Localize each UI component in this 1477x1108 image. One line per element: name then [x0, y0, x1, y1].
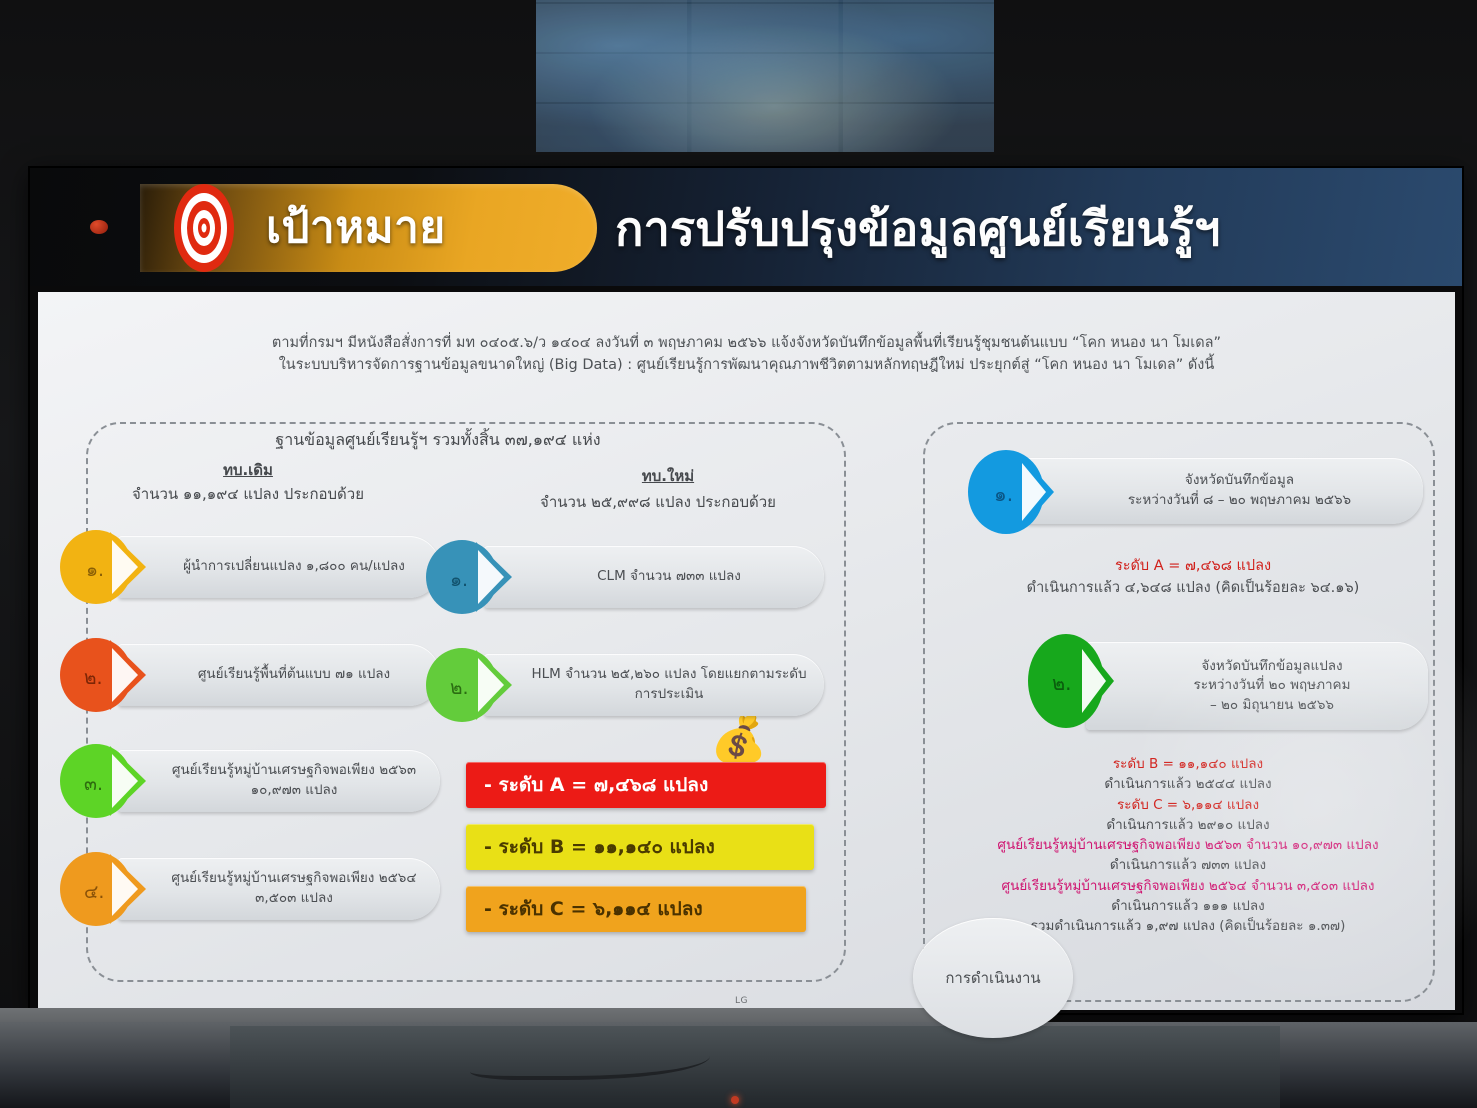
money-bag-icon: 💰: [710, 716, 767, 762]
goal-label: เป้าหมาย: [266, 190, 586, 264]
tv-brand-logo: LG: [735, 996, 748, 1006]
note2-line-7: ศูนย์เรียนรู้หมู่บ้านเศรษฐกิจพอเพียง ๒๕๖…: [928, 876, 1448, 896]
step-arrow-icon: ๒.: [426, 648, 512, 722]
step-arrow-icon: ๑.: [60, 530, 146, 604]
step-arrow-icon: ๑.: [426, 540, 512, 614]
slide-header-band: เป้าหมาย การปรับปรุงข้อมูลศูนย์เรียนรู้ฯ: [30, 168, 1462, 286]
old-row-3[interactable]: ๓. ศูนย์เรียนรู้หมู่บ้านเศรษฐกิจพอเพียง …: [60, 744, 440, 818]
step-arrow-icon: ๓.: [60, 744, 146, 818]
note2-line-6: ดำเนินการแล้ว ๗๓๓ แปลง: [928, 855, 1448, 875]
note2-line-8: ดำเนินการแล้ว ๑๑๑ แปลง: [928, 896, 1448, 916]
svg-text:๔.: ๔.: [84, 881, 104, 903]
right-step-2-line-1: จังหวัดบันทึกข้อมูลแปลง: [1201, 657, 1342, 677]
svg-text:๑.: ๑.: [450, 569, 468, 591]
right-note-block-2: ระดับ B = ๑๑,๑๔๐ แปลง ดำเนินการแล้ว ๒๕๔๔…: [928, 754, 1448, 936]
operation-label: การดำเนินงาน: [913, 918, 1073, 1038]
step-arrow-icon: ๒.: [60, 638, 146, 712]
svg-text:๒.: ๒.: [450, 677, 469, 699]
new-row-1-label: CLM จำนวน ๗๓๓ แปลง: [484, 546, 824, 608]
new-row-2-label: HLM จำนวน ๒๕,๒๖๐ แปลง โดยแยกตามระดับการป…: [484, 654, 824, 716]
note2-line-4: ดำเนินการแล้ว ๒๙๑๐ แปลง: [928, 815, 1448, 835]
new-row-1[interactable]: ๑. CLM จำนวน ๗๓๓ แปลง: [426, 540, 824, 614]
right-step-2-body: จังหวัดบันทึกข้อมูลแปลง ระหว่างวันที่ ๒๐…: [1086, 642, 1428, 730]
right-note-block-1: ระดับ A = ๗,๔๖๘ แปลง ดำเนินการแล้ว ๔,๖๔๘…: [943, 556, 1443, 600]
new-row-2[interactable]: ๒. HLM จำนวน ๒๕,๒๖๐ แปลง โดยแยกตามระดับก…: [426, 648, 824, 722]
old-row-2[interactable]: ๒. ศูนย์เรียนรู้พื้นที่ต้นแบบ ๗๑ แปลง: [60, 638, 440, 712]
intro-paragraph: ตามที่กรมฯ มีหนังสือสั่งการที่ มท ๐๔๐๕.๖…: [38, 332, 1455, 377]
right-step-2-line-3: – ๒๐ มิถุนายน ๒๕๖๖: [1210, 696, 1334, 716]
svg-text:๑.: ๑.: [86, 559, 104, 581]
old-row-4-label: ศูนย์เรียนรู้หมู่บ้านเศรษฐกิจพอเพียง ๒๕๖…: [118, 858, 440, 920]
col-new-subheading: จำนวน ๒๕,๙๙๘ แปลง ประกอบด้วย: [438, 490, 878, 514]
level-a-chip[interactable]: - ระดับ A = ๗,๔๖๘ แปลง: [466, 762, 826, 808]
photo-collage-panel: [536, 0, 994, 152]
desk-shadow: [230, 1026, 1280, 1108]
slide-body: ตามที่กรมฯ มีหนังสือสั่งการที่ มท ๐๔๐๕.๖…: [38, 292, 1455, 1010]
note2-line-2: ดำเนินการแล้ว ๒๕๔๔ แปลง: [928, 774, 1448, 794]
step-arrow-icon: ๔.: [60, 852, 146, 926]
left-panel-title: ฐานข้อมูลศูนย์เรียนรู้ฯ รวมทั้งสิ้น ๓๗,๑…: [158, 428, 718, 453]
col-old-subheading: จำนวน ๑๑,๑๙๔ แปลง ประกอบด้วย: [58, 482, 438, 506]
screenshot-root: เป้าหมาย การปรับปรุงข้อมูลศูนย์เรียนรู้ฯ…: [0, 0, 1477, 1108]
right-step-2-line-2: ระหว่างวันที่ ๒๐ พฤษภาคม: [1194, 676, 1351, 696]
old-row-4[interactable]: ๔. ศูนย์เรียนรู้หมู่บ้านเศรษฐกิจพอเพียง …: [60, 852, 440, 926]
old-row-1[interactable]: ๑. ผู้นำการเปลี่ยนแปลง ๑,๘๐๐ คน/แปลง: [60, 530, 440, 604]
page-title: การปรับปรุงข้อมูลศูนย์เรียนรู้ฯ: [615, 188, 1455, 268]
svg-text:๒.: ๒.: [84, 667, 103, 689]
power-led-icon: [731, 1096, 739, 1104]
note2-line-1: ระดับ B = ๑๑,๑๔๐ แปลง: [928, 754, 1448, 774]
old-row-3-label: ศูนย์เรียนรู้หมู่บ้านเศรษฐกิจพอเพียง ๒๕๖…: [118, 750, 440, 812]
intro-line-2: ในระบบบริหารจัดการฐานข้อมูลขนาดใหญ่ (Big…: [72, 354, 1421, 376]
right-step-1[interactable]: ๑. จังหวัดบันทึกข้อมูล ระหว่างวันที่ ๘ –…: [968, 450, 1423, 534]
col-new-heading: ทบ.ใหม่: [538, 464, 798, 488]
right-step-2[interactable]: ๒. จังหวัดบันทึกข้อมูลแปลง ระหว่างวันที่…: [1028, 634, 1428, 738]
intro-line-1: ตามที่กรมฯ มีหนังสือสั่งการที่ มท ๐๔๐๕.๖…: [72, 332, 1421, 354]
note1-line-1: ระดับ A = ๗,๔๖๘ แปลง: [943, 556, 1443, 578]
step-arrow-icon: ๒.: [1028, 634, 1114, 708]
note2-line-3: ระดับ C = ๖,๑๑๔ แปลง: [928, 795, 1448, 815]
svg-text:๑.: ๑.: [994, 482, 1013, 506]
level-c-chip[interactable]: - ระดับ C = ๖,๑๑๔ แปลง: [466, 886, 806, 932]
old-row-1-label: ผู้นำการเปลี่ยนแปลง ๑,๘๐๐ คน/แปลง: [118, 536, 440, 598]
note2-line-5: ศูนย์เรียนรู้หมู่บ้านเศรษฐกิจพอเพียง ๒๕๖…: [928, 835, 1448, 855]
bullseye-icon: [158, 182, 250, 274]
svg-text:๒.: ๒.: [1052, 671, 1072, 695]
step-arrow-icon: ๑.: [968, 450, 1054, 524]
old-row-2-label: ศูนย์เรียนรู้พื้นที่ต้นแบบ ๗๑ แปลง: [118, 644, 440, 706]
col-old-heading: ทบ.เดิม: [68, 458, 428, 482]
bullet-dot-icon: [90, 220, 108, 234]
right-step-1-line-2: ระหว่างวันที่ ๘ – ๒๐ พฤษภาคม ๒๕๖๖: [1128, 491, 1351, 511]
svg-text:๓.: ๓.: [84, 773, 103, 795]
note1-line-2: ดำเนินการแล้ว ๔,๖๔๘ แปลง (คิดเป็นร้อยละ …: [943, 578, 1443, 600]
right-step-1-line-1: จังหวัดบันทึกข้อมูล: [1185, 471, 1294, 491]
level-b-chip[interactable]: - ระดับ B = ๑๑,๑๔๐ แปลง: [466, 824, 814, 870]
right-step-1-body: จังหวัดบันทึกข้อมูล ระหว่างวันที่ ๘ – ๒๐…: [1026, 458, 1423, 524]
